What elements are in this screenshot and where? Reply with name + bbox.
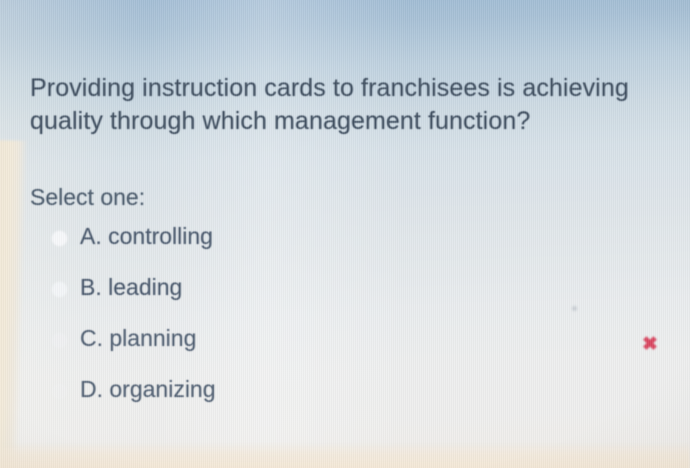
answer-options-list: A. controlling B. leading C. planning D.… [46,224,466,428]
option-row-c[interactable]: C. planning [46,326,466,377]
dust-speck [572,306,577,311]
radio-button-c[interactable] [52,333,67,348]
option-row-d[interactable]: D. organizing [46,377,466,428]
select-one-label: Select one: [30,184,145,211]
option-label-b[interactable]: B. leading [80,274,182,301]
radio-button-d[interactable] [52,384,67,399]
photographed-quiz-screen: Providing instruction cards to franchise… [0,0,690,468]
option-label-c[interactable]: C. planning [80,325,196,352]
question-text: Providing instruction cards to franchise… [30,72,650,138]
quiz-content: Providing instruction cards to franchise… [0,0,690,468]
option-label-d[interactable]: D. organizing [80,376,216,403]
incorrect-x-icon: ✖ [641,334,659,356]
option-row-b[interactable]: B. leading [46,275,466,326]
option-label-a[interactable]: A. controlling [80,223,213,250]
option-row-a[interactable]: A. controlling [46,224,466,275]
radio-button-b[interactable] [52,282,67,297]
radio-button-a[interactable] [52,231,67,246]
